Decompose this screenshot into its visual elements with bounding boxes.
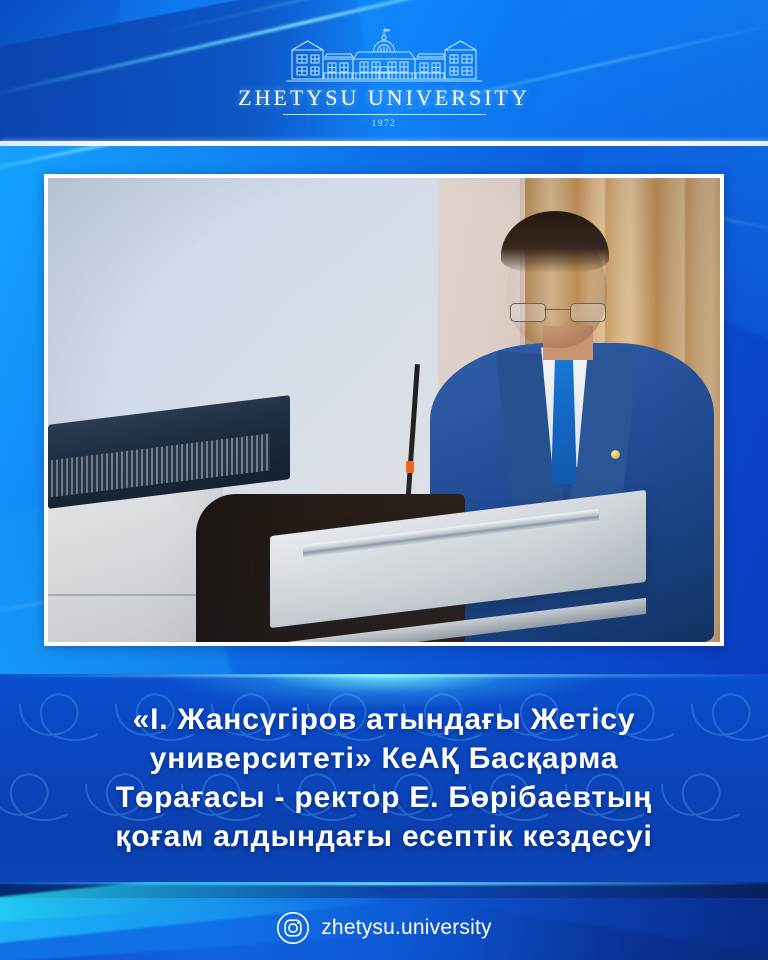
photo-band: [0, 146, 768, 674]
title-line: «І. Жансүгіров атындағы Жетісу: [133, 703, 636, 736]
footer-band: zhetysu.university: [0, 882, 768, 960]
title-line: университеті» КеАҚ Басқарма: [150, 742, 618, 775]
title-band: «І. Жансүгіров атындағы Жетісу университ…: [0, 674, 768, 882]
poster-canvas: ZHETYSU UNIVERSITY 1972: [0, 0, 768, 960]
brand-wordmark: ZHETYSU UNIVERSITY: [0, 87, 768, 109]
footer-social-link[interactable]: zhetysu.university: [0, 882, 768, 960]
instagram-icon[interactable]: [276, 911, 310, 945]
university-building-icon: [278, 26, 490, 84]
title-line: қоғам алдындағы есептік кездесуі: [115, 820, 652, 853]
photo-vignette: [48, 178, 720, 642]
page-title: «І. Жансүгіров атындағы Жетісу университ…: [0, 674, 768, 856]
photo-frame: [44, 174, 724, 646]
photo-band-light-streak: [0, 146, 283, 177]
brand-established-year: 1972: [0, 118, 768, 128]
instagram-handle[interactable]: zhetysu.university: [321, 916, 492, 940]
title-line: Төрағасы - ректор Е. Бөрібаевтың: [116, 781, 652, 814]
event-photo: [48, 178, 720, 642]
brand-logo: ZHETYSU UNIVERSITY 1972: [0, 26, 768, 128]
brand-rule: [283, 114, 486, 115]
